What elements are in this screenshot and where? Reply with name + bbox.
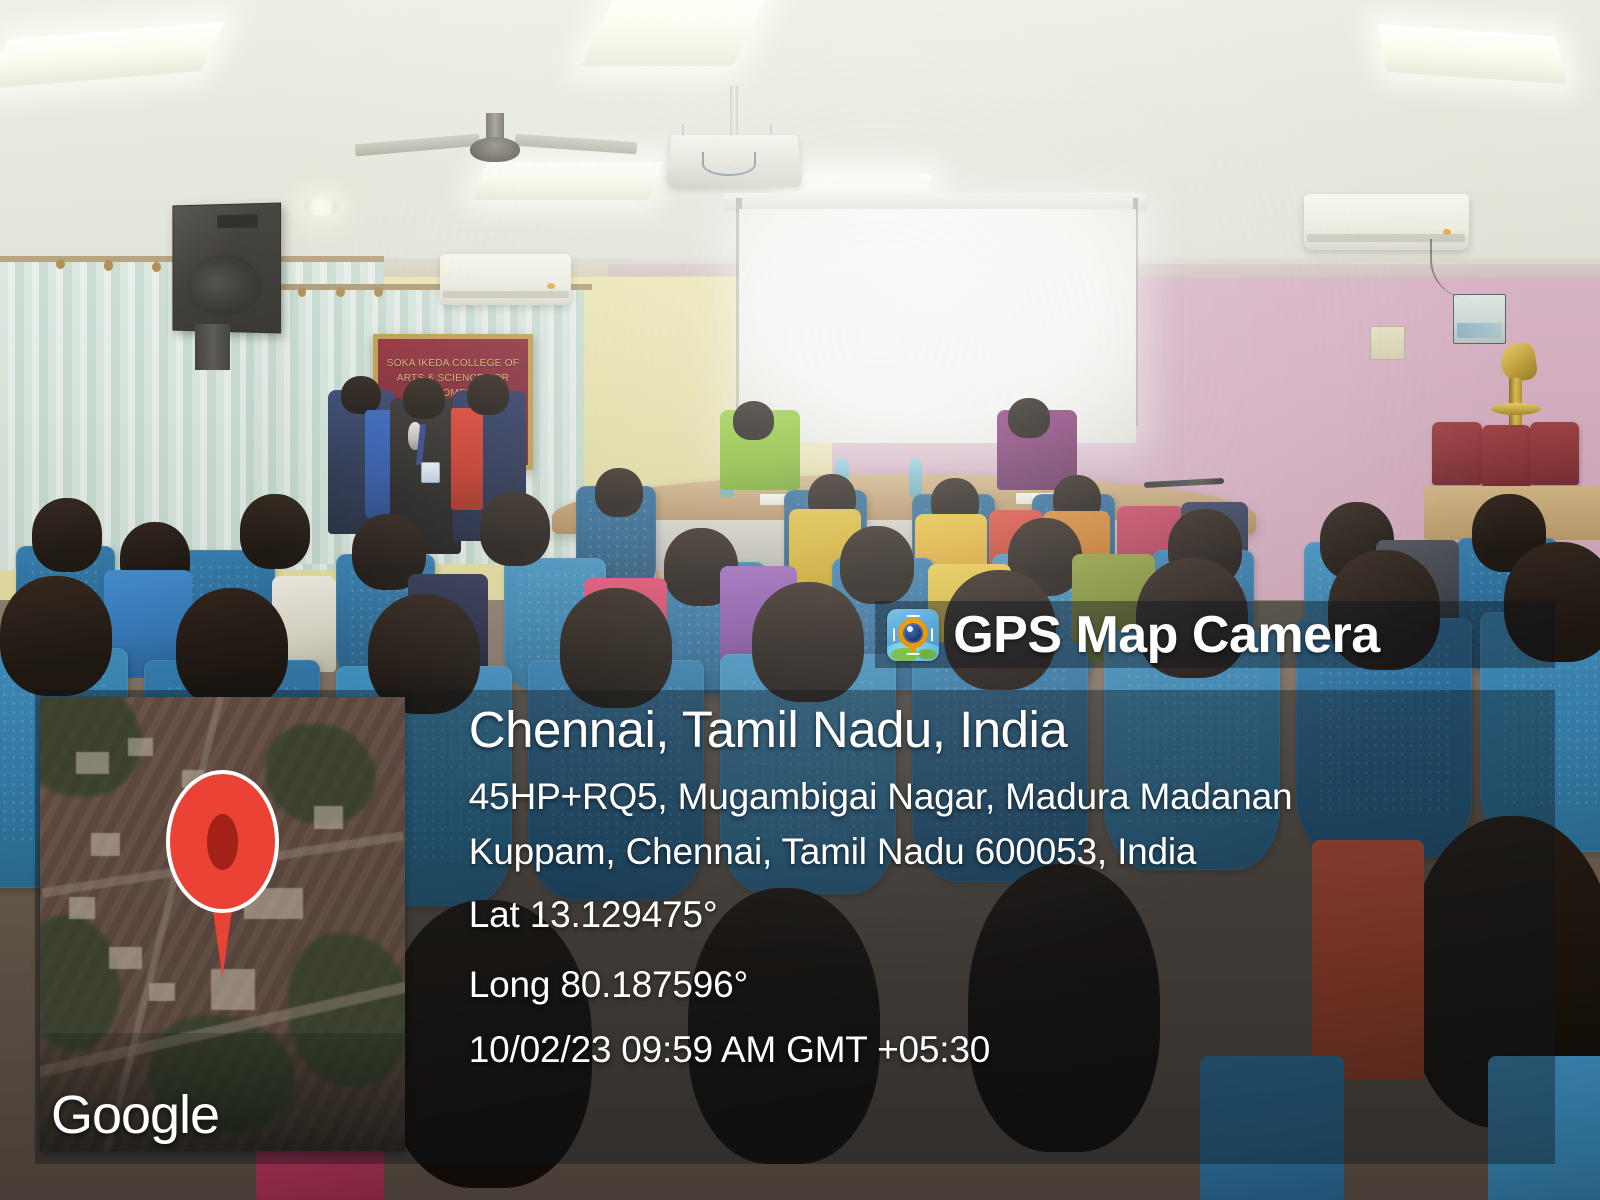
person-head: [1008, 398, 1050, 438]
maroon-chair: [1482, 425, 1532, 487]
id-card: [421, 462, 441, 483]
audience-head: [0, 576, 112, 696]
banner-line-1: SOKA IKEDA COLLEGE OF: [378, 356, 528, 371]
person-head: [467, 374, 509, 415]
timestamp-value: 10/02/23 09:59 AM GMT +05:30: [469, 1020, 1525, 1079]
screenshot-root: SOKA IKEDA COLLEGE OF ARTS & SCIENCE FOR…: [0, 0, 1600, 1200]
maroon-chair: [1432, 422, 1482, 484]
air-conditioner: [440, 254, 571, 304]
audience-head: [752, 582, 864, 702]
gps-map-camera-header: GPS Map Camera: [875, 601, 1555, 668]
water-bottle: [909, 458, 923, 496]
location-title: Chennai, Tamil Nadu, India: [469, 700, 1525, 759]
audience-head: [32, 498, 102, 572]
fluorescent-light: [472, 162, 664, 200]
speaker-port: [217, 214, 258, 227]
app-title: GPS Map Camera: [953, 605, 1380, 665]
audience-head: [595, 468, 643, 517]
ceiling-fan-hub: [470, 137, 520, 162]
map-thumbnail[interactable]: Google: [40, 697, 405, 1151]
longitude-value: Long 80.187596°: [469, 950, 1525, 1020]
viewfinder-frame-shape: [893, 615, 933, 655]
person-head: [341, 376, 381, 414]
address-line-1: 45HP+RQ5, Mugambigai Nagar, Madura Madan…: [469, 769, 1525, 825]
maroon-chair: [1530, 422, 1580, 484]
audience-head: [840, 526, 914, 604]
google-watermark: Google: [51, 1084, 219, 1146]
wall-switch-box: [1370, 326, 1406, 359]
gps-info-text: Chennai, Tamil Nadu, India 45HP+RQ5, Mug…: [469, 700, 1525, 1080]
audience-head: [240, 494, 310, 568]
latitude-value: Lat 13.129475°: [469, 880, 1525, 950]
voltage-stabilizer: [1453, 294, 1506, 344]
gps-map-camera-icon: [887, 609, 939, 661]
person-head: [733, 401, 775, 441]
map-pin-icon: [166, 770, 279, 970]
projector-cable: [702, 152, 756, 176]
person-head: [403, 378, 445, 419]
speaker-bracket: [195, 324, 230, 370]
ceiling-downlight: [304, 198, 338, 216]
wall-speaker: [172, 202, 280, 333]
projection-screen: [739, 209, 1136, 443]
address-line-2: Kuppam, Chennai, Tamil Nadu 600053, Indi…: [469, 824, 1525, 880]
audience-head: [480, 492, 550, 566]
red-dupatta: [451, 408, 483, 510]
